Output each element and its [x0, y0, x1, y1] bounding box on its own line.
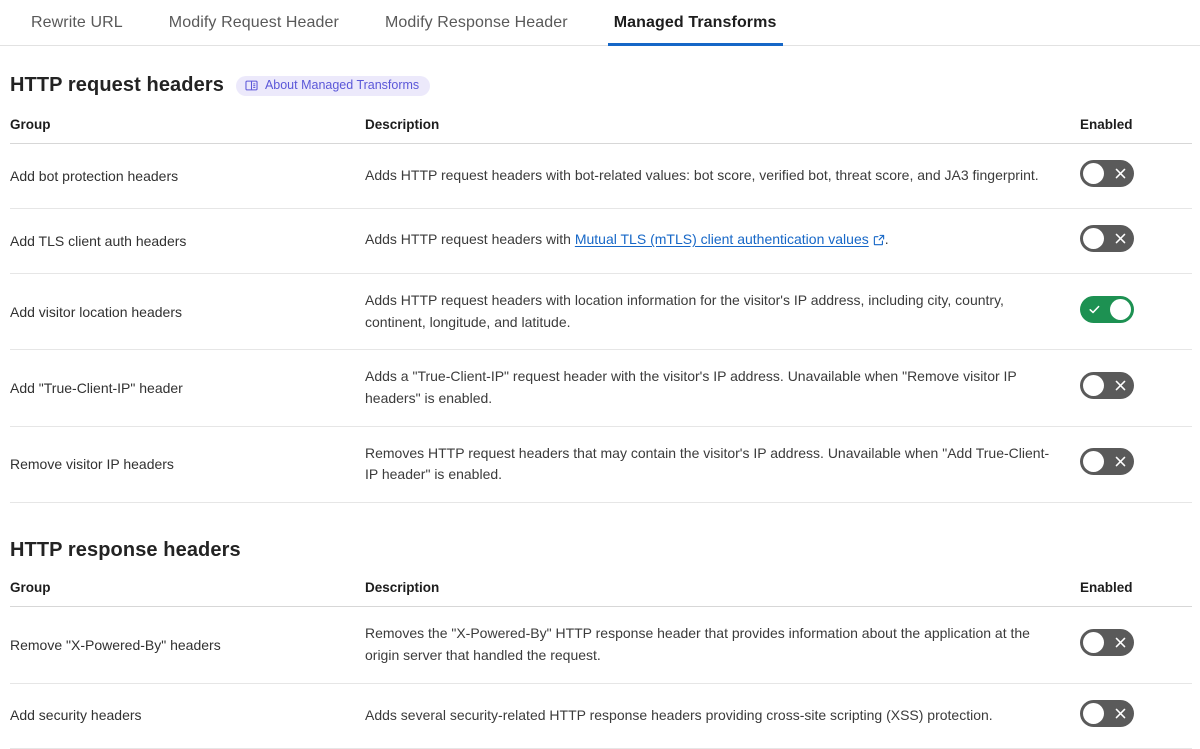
- row-group-cell: Add TLS client auth headers: [10, 209, 365, 274]
- spacer-after-tabs: [0, 46, 1200, 74]
- response-table-head: Group Description Enabled: [10, 580, 1192, 607]
- row-group-cell: Add visitor location headers: [10, 274, 365, 350]
- toggle-knob: [1083, 451, 1104, 472]
- toggle-knob: [1083, 703, 1104, 724]
- row-enabled-cell: [1080, 683, 1192, 748]
- row-enabled-cell: [1080, 350, 1192, 426]
- group-label: Add security headers: [10, 705, 365, 725]
- page-title-request: HTTP request headers: [10, 74, 224, 97]
- book-icon: [245, 79, 258, 92]
- tab-modify-response-header[interactable]: Modify Response Header: [385, 0, 568, 45]
- row-description-cell: Adds HTTP request headers with location …: [365, 274, 1080, 350]
- toggle-remove-x-powered-by-headers[interactable]: [1080, 629, 1134, 656]
- table-header-row: Group Description Enabled: [10, 580, 1192, 607]
- request-table-body: Add bot protection headers Adds HTTP req…: [10, 144, 1192, 503]
- row-group-cell: Remove "X-Powered-By" headers: [10, 607, 365, 683]
- mutual-tls-doc-link[interactable]: Mutual TLS (mTLS) client authentication …: [575, 231, 869, 247]
- check-icon: [1081, 296, 1107, 323]
- request-section-header: HTTP request headers About Managed Trans…: [10, 74, 1190, 97]
- toggle-knob: [1083, 228, 1104, 249]
- group-label: Add visitor location headers: [10, 302, 365, 322]
- row-group-cell: Add "True-Client-IP" header: [10, 350, 365, 426]
- about-managed-transforms-label: About Managed Transforms: [265, 79, 419, 92]
- column-header-enabled: Enabled: [1080, 580, 1192, 607]
- table-row: Add bot protection headers Adds HTTP req…: [10, 144, 1192, 209]
- row-enabled-cell: [1080, 209, 1192, 274]
- table-row: Add security headers Adds several securi…: [10, 683, 1192, 748]
- tab-rewrite-url[interactable]: Rewrite URL: [31, 0, 123, 45]
- table-header-row: Group Description Enabled: [10, 117, 1192, 144]
- close-icon: [1107, 225, 1133, 252]
- description-text: Removes HTTP request headers that may co…: [365, 443, 1055, 486]
- column-header-group: Group: [10, 580, 365, 607]
- toggle-add-visitor-location-headers[interactable]: [1080, 296, 1134, 323]
- description-text: Adds several security-related HTTP respo…: [365, 705, 1055, 727]
- http-request-headers-section: HTTP request headers About Managed Trans…: [0, 74, 1200, 503]
- description-suffix: .: [885, 231, 889, 247]
- close-icon: [1107, 448, 1133, 475]
- spacer-between-sections: [0, 503, 1200, 539]
- tab-modify-request-header[interactable]: Modify Request Header: [169, 0, 339, 45]
- row-enabled-cell: [1080, 607, 1192, 683]
- row-description-cell: Adds a "True-Client-IP" request header w…: [365, 350, 1080, 426]
- tab-managed-transforms[interactable]: Managed Transforms: [614, 0, 777, 45]
- column-header-description: Description: [365, 580, 1080, 607]
- group-label: Add TLS client auth headers: [10, 231, 365, 251]
- about-managed-transforms-link[interactable]: About Managed Transforms: [236, 76, 430, 96]
- row-description-cell: Adds several security-related HTTP respo…: [365, 683, 1080, 748]
- row-description-cell: Removes the "X-Powered-By" HTTP response…: [365, 607, 1080, 683]
- response-table-body: Remove "X-Powered-By" headers Removes th…: [10, 607, 1192, 748]
- description-text: Adds a "True-Client-IP" request header w…: [365, 366, 1055, 409]
- column-header-group: Group: [10, 117, 365, 144]
- close-icon: [1107, 700, 1133, 727]
- row-group-cell: Add security headers: [10, 683, 365, 748]
- toggle-knob: [1083, 632, 1104, 653]
- toggle-add-tls-client-auth-headers[interactable]: [1080, 225, 1134, 252]
- row-group-cell: Remove visitor IP headers: [10, 426, 365, 502]
- http-request-headers-table: Group Description Enabled Add bot protec…: [10, 117, 1192, 503]
- response-section-header: HTTP response headers: [10, 539, 1190, 562]
- row-enabled-cell: [1080, 144, 1192, 209]
- description-text: Adds HTTP request headers with bot-relat…: [365, 165, 1055, 187]
- page-title-response: HTTP response headers: [10, 539, 241, 562]
- table-row: Add "True-Client-IP" header Adds a "True…: [10, 350, 1192, 426]
- table-row: Add visitor location headers Adds HTTP r…: [10, 274, 1192, 350]
- row-enabled-cell: [1080, 426, 1192, 502]
- table-row: Remove "X-Powered-By" headers Removes th…: [10, 607, 1192, 683]
- close-icon: [1107, 160, 1133, 187]
- description-text: Removes the "X-Powered-By" HTTP response…: [365, 623, 1055, 666]
- external-link-icon[interactable]: [873, 231, 885, 253]
- row-group-cell: Add bot protection headers: [10, 144, 365, 209]
- toggle-remove-visitor-ip-headers[interactable]: [1080, 448, 1134, 475]
- close-icon: [1107, 372, 1133, 399]
- column-header-description: Description: [365, 117, 1080, 144]
- toggle-knob: [1083, 163, 1104, 184]
- description-prefix: Adds HTTP request headers with: [365, 231, 575, 247]
- toggle-add-bot-protection-headers[interactable]: [1080, 160, 1134, 187]
- row-description-cell: Adds HTTP request headers with Mutual TL…: [365, 209, 1080, 274]
- description-text: Adds HTTP request headers with location …: [365, 290, 1055, 333]
- toggle-knob: [1110, 299, 1131, 320]
- row-description-cell: Removes HTTP request headers that may co…: [365, 426, 1080, 502]
- request-table-head: Group Description Enabled: [10, 117, 1192, 144]
- toggle-add-true-client-ip-header[interactable]: [1080, 372, 1134, 399]
- row-description-cell: Adds HTTP request headers with bot-relat…: [365, 144, 1080, 209]
- row-enabled-cell: [1080, 274, 1192, 350]
- close-icon: [1107, 629, 1133, 656]
- spacer-before-response-table: [10, 562, 1190, 580]
- column-header-enabled: Enabled: [1080, 117, 1192, 144]
- toggle-knob: [1083, 375, 1104, 396]
- transform-rules-tabs: Rewrite URL Modify Request Header Modify…: [0, 0, 1200, 46]
- http-response-headers-section: HTTP response headers Group Description …: [0, 539, 1200, 748]
- description-text: Adds HTTP request headers with Mutual TL…: [365, 229, 1055, 253]
- spacer-before-request-table: [10, 97, 1190, 117]
- group-label: Remove "X-Powered-By" headers: [10, 635, 365, 655]
- group-label: Add "True-Client-IP" header: [10, 378, 365, 398]
- group-label: Remove visitor IP headers: [10, 454, 365, 474]
- table-row: Add TLS client auth headers Adds HTTP re…: [10, 209, 1192, 274]
- toggle-add-security-headers[interactable]: [1080, 700, 1134, 727]
- table-row: Remove visitor IP headers Removes HTTP r…: [10, 426, 1192, 502]
- http-response-headers-table: Group Description Enabled Remove "X-Powe…: [10, 580, 1192, 748]
- group-label: Add bot protection headers: [10, 166, 365, 186]
